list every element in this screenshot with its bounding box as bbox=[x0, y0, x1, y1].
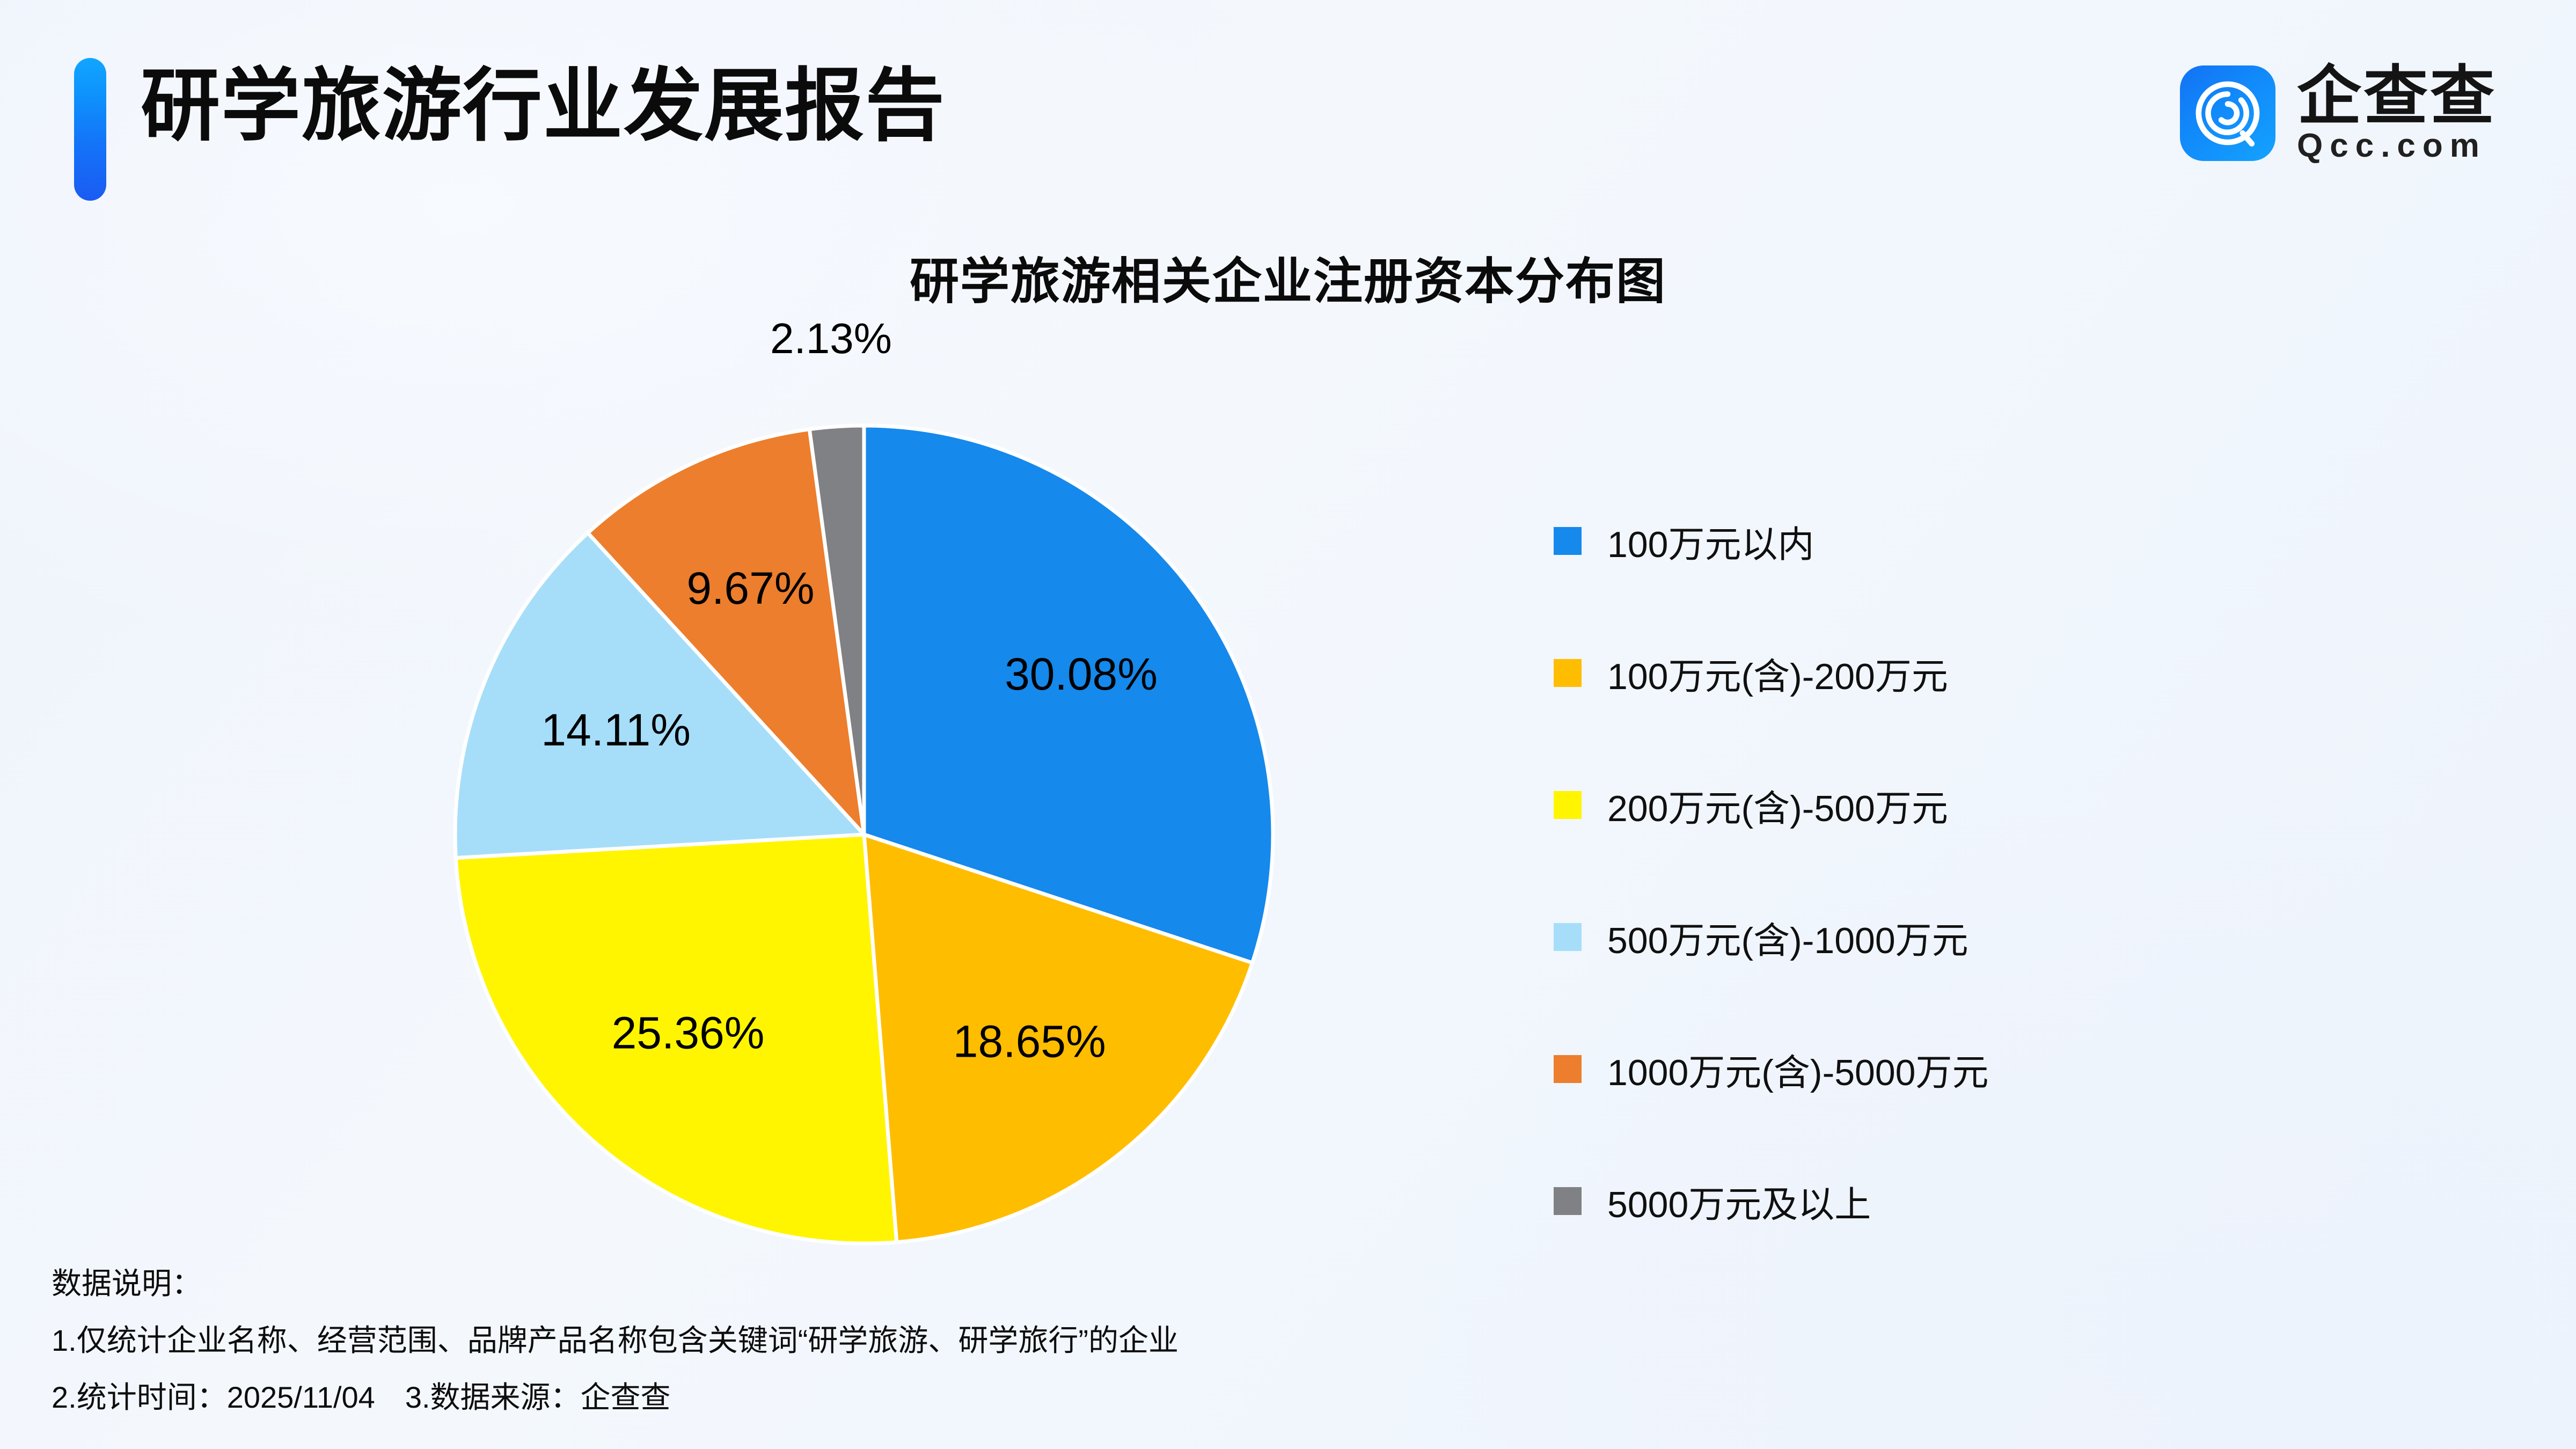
legend-swatch-icon bbox=[1554, 527, 1582, 555]
legend-item[interactable]: 200万元(含)-500万元 bbox=[1554, 739, 1988, 871]
pie-slice-value-label: 18.65% bbox=[953, 1016, 1106, 1067]
legend-item-label: 500万元(含)-1000万元 bbox=[1607, 911, 1968, 964]
legend-swatch-icon bbox=[1554, 1187, 1582, 1215]
legend-item[interactable]: 100万元以内 bbox=[1554, 475, 1988, 607]
brand-name-cn: 企查查 bbox=[2297, 64, 2497, 128]
brand-logo-text: 企查查 Qcc.com bbox=[2297, 64, 2497, 163]
chart-legend: 100万元以内100万元(含)-200万元200万元(含)-500万元500万元… bbox=[1554, 475, 1988, 1267]
pie-chart-svg: 30.08%18.65%25.36%14.11%9.67%2.13% bbox=[419, 389, 1309, 1280]
legend-item[interactable]: 100万元(含)-200万元 bbox=[1554, 607, 1988, 739]
legend-item-label: 5000万元及以上 bbox=[1607, 1175, 1871, 1228]
pie-slice-value-label: 9.67% bbox=[686, 563, 814, 613]
title-accent-bar bbox=[74, 58, 106, 201]
legend-item-label: 200万元(含)-500万元 bbox=[1607, 779, 1948, 832]
qcc-spiral-logo-icon bbox=[2180, 65, 2275, 161]
legend-item-label: 100万元以内 bbox=[1607, 515, 1814, 568]
legend-item[interactable]: 500万元(含)-1000万元 bbox=[1554, 871, 1988, 1003]
pie-slice-value-label: 30.08% bbox=[1005, 649, 1158, 699]
legend-swatch-icon bbox=[1554, 659, 1582, 687]
brand-logo[interactable]: 企查查 Qcc.com bbox=[2180, 52, 2497, 175]
pie-slice-value-label: 14.11% bbox=[541, 705, 691, 755]
legend-swatch-icon bbox=[1554, 923, 1582, 951]
footer-note-2: 2.统计时间：2025/11/04 3.数据来源：企查查 bbox=[52, 1382, 1876, 1413]
legend-swatch-icon bbox=[1554, 791, 1582, 819]
page-title: 研学旅游行业发展报告 bbox=[141, 63, 946, 149]
footer-notes: 数据说明： 1.仅统计企业名称、经营范围、品牌产品名称包含关键词“研学旅游、研学… bbox=[52, 1269, 1876, 1413]
pie-chart: 30.08%18.65%25.36%14.11%9.67%2.13% bbox=[419, 389, 1309, 1280]
legend-item[interactable]: 5000万元及以上 bbox=[1554, 1135, 1988, 1267]
brand-domain: Qcc.com bbox=[2297, 129, 2497, 163]
legend-item-label: 1000万元(含)-5000万元 bbox=[1607, 1043, 1988, 1096]
chart-title: 研学旅游相关企业注册资本分布图 bbox=[0, 241, 2576, 313]
pie-slice-value-label: 2.13% bbox=[770, 314, 892, 362]
legend-item-label: 100万元(含)-200万元 bbox=[1607, 647, 1948, 700]
footer-note-1: 1.仅统计企业名称、经营范围、品牌产品名称包含关键词“研学旅游、研学旅行”的企业 bbox=[52, 1326, 1876, 1356]
legend-swatch-icon bbox=[1554, 1055, 1582, 1083]
legend-item[interactable]: 1000万元(含)-5000万元 bbox=[1554, 1003, 1988, 1135]
pie-slice-group bbox=[455, 426, 1273, 1243]
footer-heading: 数据说明： bbox=[52, 1269, 1876, 1299]
page-header: 研学旅游行业发展报告 企查查 Qcc.com bbox=[0, 0, 2576, 225]
pie-slice-value-label: 25.36% bbox=[612, 1007, 765, 1058]
